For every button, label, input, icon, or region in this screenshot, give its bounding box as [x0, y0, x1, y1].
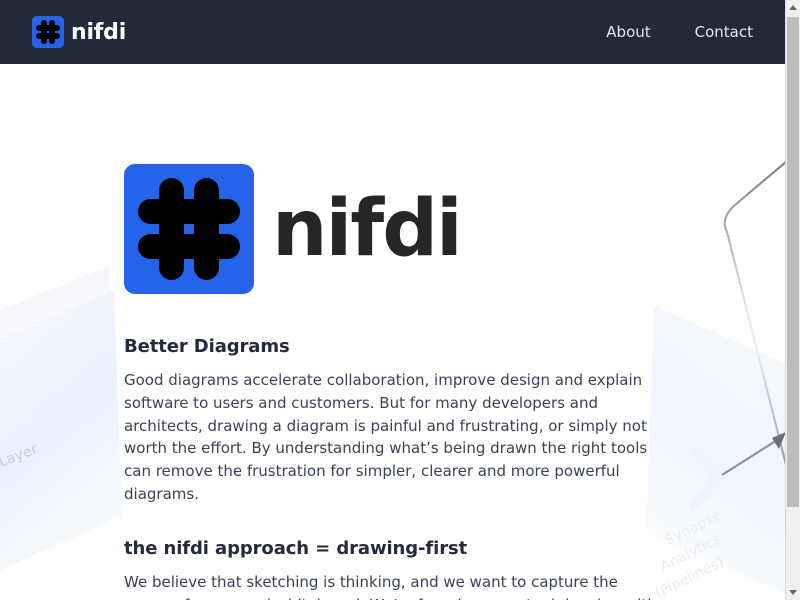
- main-content: nifdi Better Diagrams Good diagrams acce…: [0, 64, 785, 600]
- section-paragraph-nifdi-approach: We believe that sketching is thinking, a…: [124, 571, 658, 600]
- section-heading-nifdi-approach: the nifdi approach = drawing-first: [124, 538, 658, 559]
- nav-link-contact[interactable]: Contact: [695, 23, 753, 41]
- nav-link-about[interactable]: About: [606, 23, 650, 41]
- chevron-up-icon: [789, 5, 797, 10]
- hash-bar-vertical-right: [194, 178, 219, 279]
- hero-brand-block: nifdi: [124, 164, 785, 294]
- body-copy: Better Diagrams Good diagrams accelerate…: [124, 336, 658, 600]
- section-heading-better-diagrams: Better Diagrams: [124, 336, 658, 357]
- brand-home-link[interactable]: nifdi: [32, 16, 126, 48]
- hash-bar-horizontal-top: [138, 199, 239, 224]
- hash-logo-icon: [32, 16, 64, 48]
- nav-links: About Contact: [606, 23, 753, 41]
- page-viewport: ge Layer Synapse Analytics (Pipelines): [0, 0, 785, 600]
- scrollbar-thumb[interactable]: [787, 17, 799, 507]
- hash-bar-vertical-left: [41, 20, 47, 44]
- hash-bar-vertical-right: [49, 20, 55, 44]
- hash-bar-vertical-left: [159, 178, 184, 279]
- hero-wordmark: nifdi: [272, 192, 461, 266]
- vertical-scrollbar[interactable]: [785, 0, 800, 600]
- hash-bar-horizontal-bottom: [36, 33, 60, 39]
- hash-bar-horizontal-bottom: [138, 234, 239, 259]
- hash-bar-horizontal-top: [36, 25, 60, 31]
- brand-name: nifdi: [71, 20, 126, 45]
- hash-glyph: [32, 16, 64, 48]
- section-paragraph-better-diagrams: Good diagrams accelerate collaboration, …: [124, 369, 658, 506]
- chevron-down-icon: [789, 590, 797, 595]
- hash-logo-icon-large: [124, 164, 254, 294]
- top-navigation-bar: nifdi About Contact: [0, 0, 785, 64]
- hash-glyph-large: [124, 164, 254, 294]
- scrollbar-down-button[interactable]: [786, 585, 800, 600]
- scrollbar-up-button[interactable]: [786, 0, 800, 15]
